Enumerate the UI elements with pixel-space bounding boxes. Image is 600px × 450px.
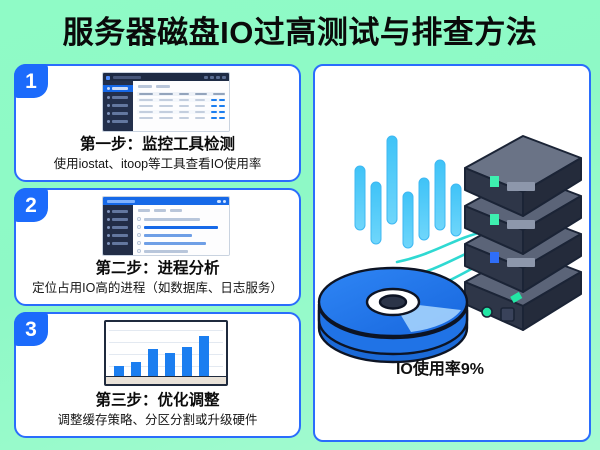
tab-chip [138,85,152,88]
sidebar-item [107,96,128,99]
steps-column: 1 [10,62,305,442]
bar-chart-illustration [104,320,228,386]
chart-bar [148,349,158,376]
page-title: 服务器磁盘IO过高测试与排查方法 [0,12,600,54]
table-row [137,98,225,102]
sidebar-item [107,218,128,221]
list-item [137,241,206,245]
window-content [133,205,229,255]
sidebar-item [107,210,128,213]
window-titlebar [103,197,229,205]
table-row [137,110,225,114]
step-title-2: 第二步：进程分析 [16,256,299,278]
disk-server-illustration [315,66,589,440]
window-title-placeholder [107,200,135,203]
sidebar-item [107,234,128,237]
illustration-panel: IO使用率9% [313,64,591,442]
list-item [137,225,218,229]
sidebar-item [107,104,128,107]
step-title-1: 第一步：监控工具检测 [16,132,299,154]
tab-chip [156,85,170,88]
sidebar-item [107,242,128,245]
window-titlebar [103,73,229,81]
list-item [137,217,200,221]
chart-axis [106,376,226,384]
window-title-placeholder [113,76,141,79]
window-controls [217,200,226,204]
process-list-window-illustration [102,196,230,256]
chart-bar [199,336,209,376]
list-item [137,249,188,253]
sidebar-item [107,112,128,115]
step-subtitle-2: 定位占用IO高的进程（如数据库、日志服务） [16,277,299,296]
sidebar-item [107,87,128,90]
chart-bar [114,366,124,376]
table-row [137,116,225,120]
poster-root: 服务器磁盘IO过高测试与排查方法 1 [0,0,600,450]
step-card-1[interactable]: 1 [14,64,301,182]
chart-bar [131,362,141,376]
step-badge-1: 1 [14,64,48,98]
io-usage-caption: IO使用率9% [315,355,565,379]
window-content [133,81,229,131]
step-subtitle-3: 调整缓存策略、分区分割或升级硬件 [16,409,299,428]
server-rack-icon [465,136,581,330]
window-controls [204,76,226,80]
window-sidebar [103,205,133,255]
dashboard-window-illustration [102,72,230,132]
sidebar-item [107,226,128,229]
disk-platter-icon [319,268,467,362]
app-logo-icon [106,76,110,80]
table-header [137,92,225,96]
step-badge-3: 3 [14,312,48,346]
step-badge-2: 2 [14,188,48,222]
activity-waveform-icon [355,136,461,248]
table-row [137,104,225,108]
step-card-3[interactable]: 3 第三步：优化调整 调整缓存策略、分区分割或升级硬件 [14,312,301,438]
list-item [137,233,192,237]
step-title-3: 第三步：优化调整 [16,388,299,410]
step-subtitle-1: 使用iostat、itoop等工具查看IO使用率 [16,153,299,172]
chart-bar [182,347,192,376]
chart-bar [165,353,175,376]
sidebar-item [107,120,128,123]
window-sidebar [103,81,133,131]
step-card-2[interactable]: 2 [14,188,301,306]
